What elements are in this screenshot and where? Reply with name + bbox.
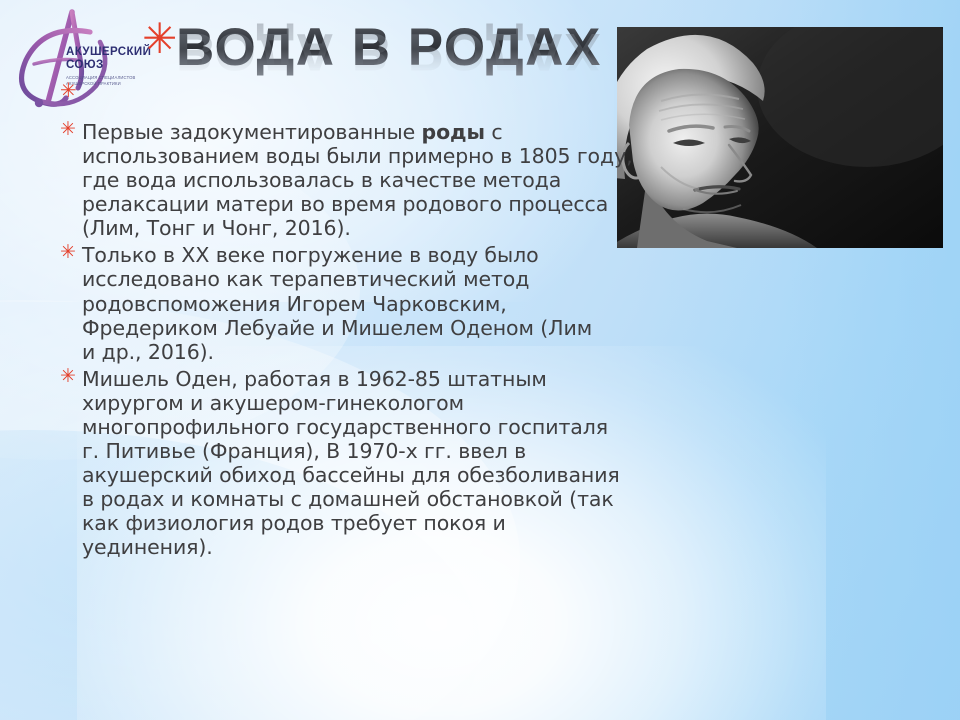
bullet-asterisk-icon: ✳ [60,365,76,389]
organization-logo: АКУШЕРСКИЙ СОЮЗ АССОЦИАЦИЯ СПЕЦИАЛИСТОВ … [4,2,154,114]
slide-canvas: АКУШЕРСКИЙ СОЮЗ АССОЦИАЦИЯ СПЕЦИАЛИСТОВ … [0,0,960,720]
portrait-photo-graphic [617,27,943,248]
bullet-text: Только в XX веке погружение в воду было … [82,243,592,363]
page-title-reflection: ВОДА В РОДАХ [176,23,602,79]
bullet-item: ✳Мишель Оден, работая в 1962-85 штатным … [56,367,622,560]
slide-title-block: ✳ ВОДА В РОДАХ ВОДА В РОДАХ [140,16,610,108]
title-asterisk-icon: ✳ [142,18,177,60]
logo-asterisk-bottom-icon: ✳ [60,80,77,100]
logo-name-line2: СОЮЗ [66,59,104,71]
bullet-text-bold: роды [422,120,485,144]
slide-body: ✳Первые задокументированные роды с испол… [56,120,636,562]
bullet-asterisk-icon: ✳ [60,118,76,142]
bullet-item: ✳Только в XX веке погружение в воду было… [56,243,602,363]
bullet-item: ✳Первые задокументированные роды с испол… [56,120,647,240]
bullet-text-pre: Первые задокументированные [82,120,422,144]
bullet-asterisk-icon: ✳ [60,241,76,265]
bullet-text: Мишель Оден, работая в 1962-85 штатным х… [82,367,620,560]
logo-monogram-icon [4,2,154,114]
logo-name-line1: АКУШЕРСКИЙ [66,46,151,58]
portrait-photo [617,27,943,248]
